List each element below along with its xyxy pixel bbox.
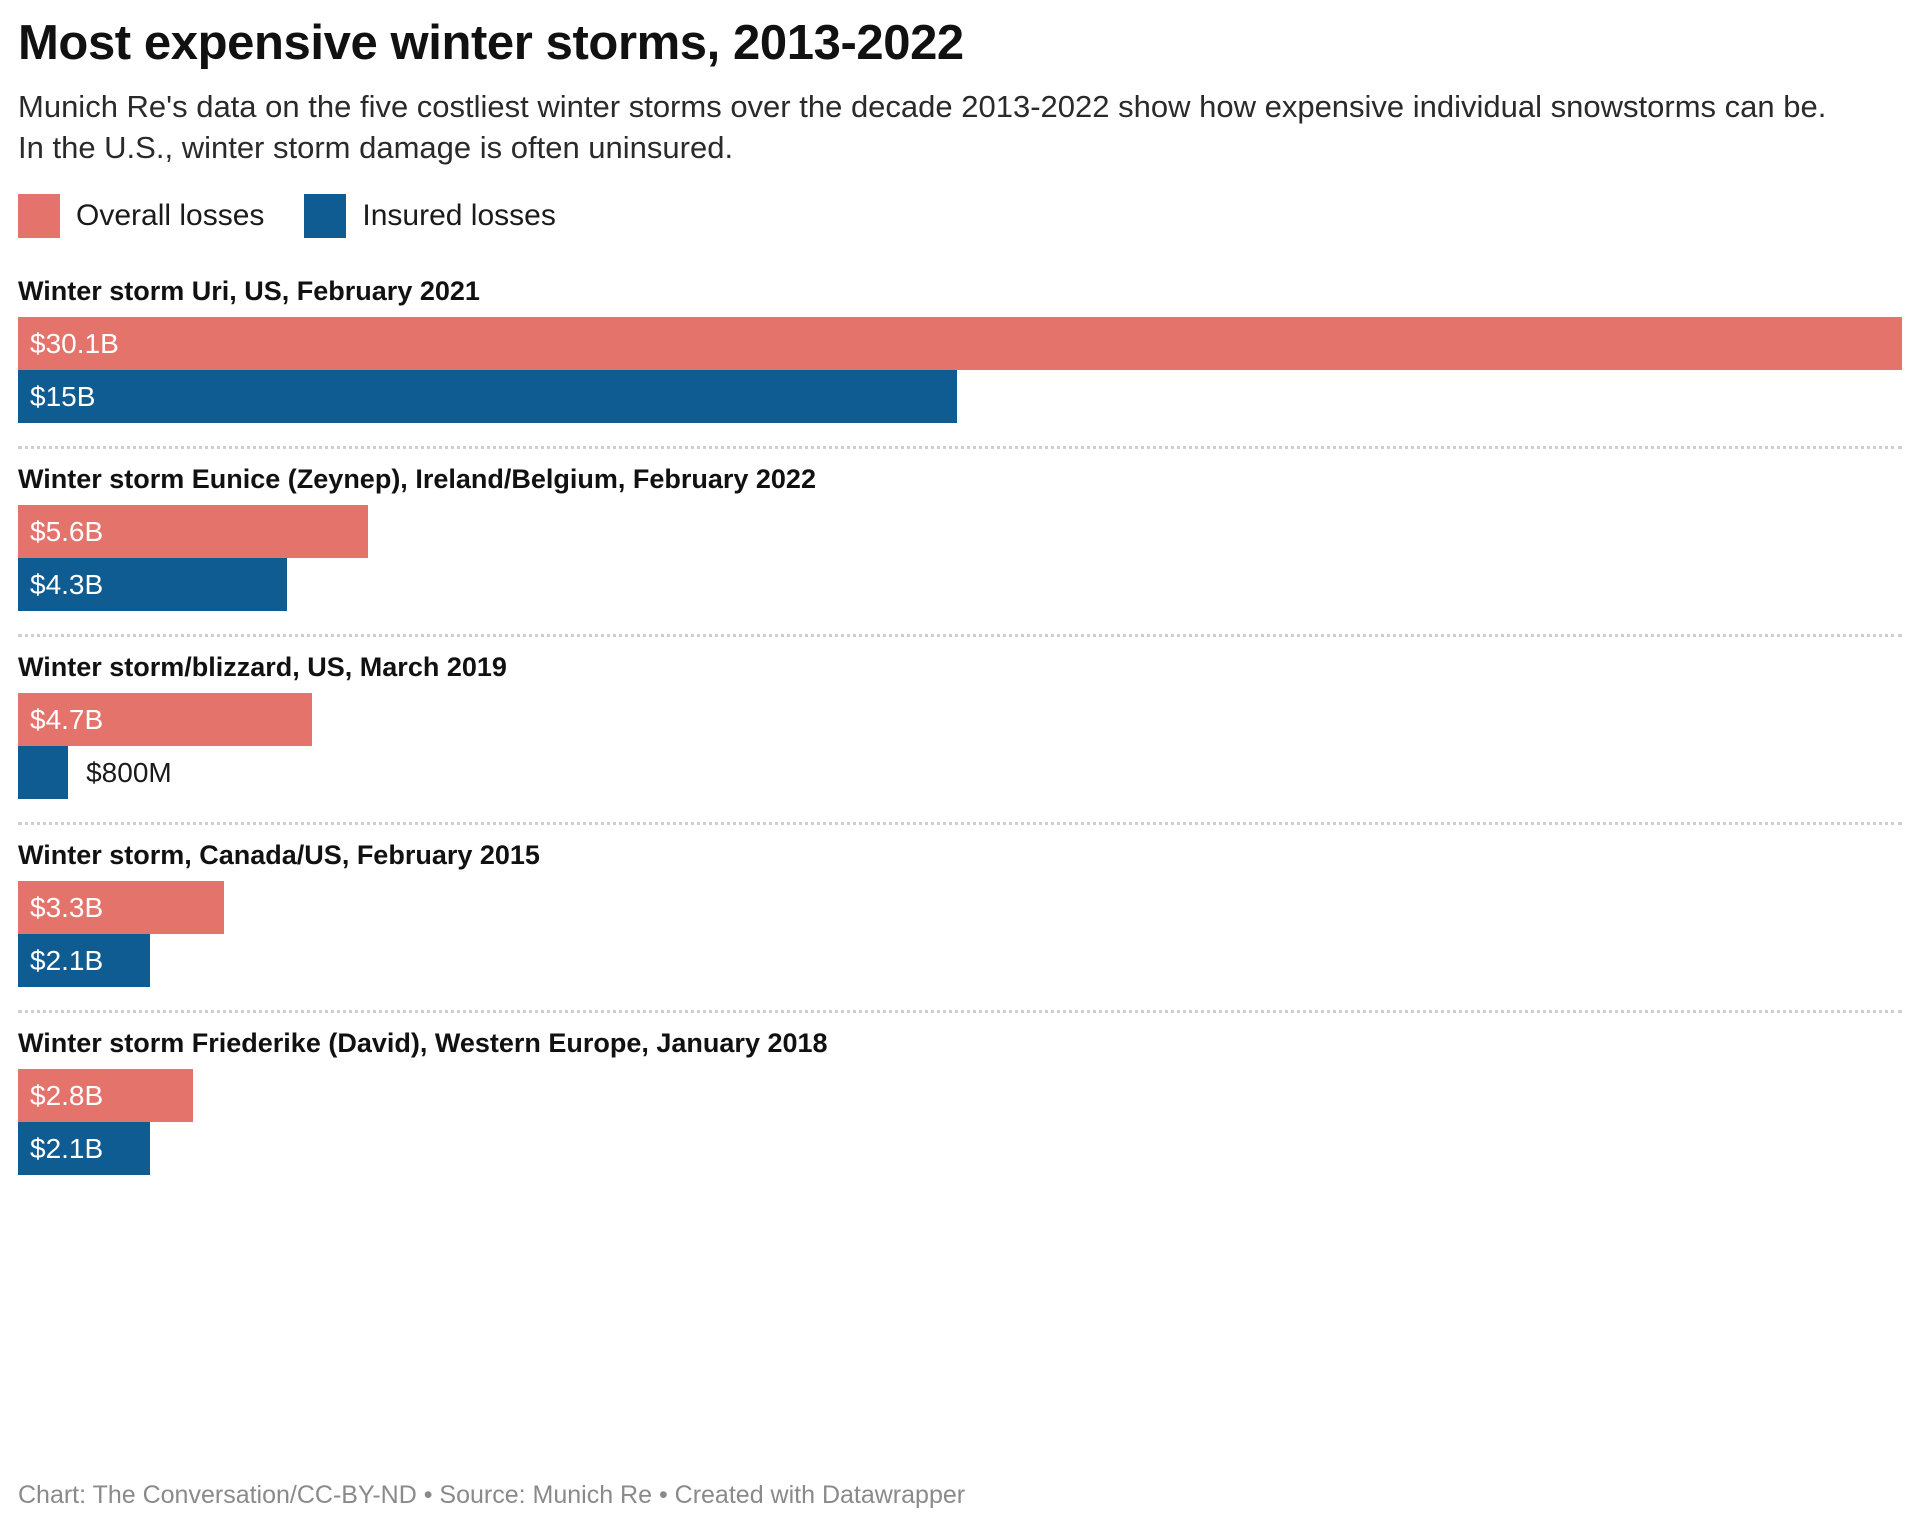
bar-group: Winter storm, Canada/US, February 2015 $…: [18, 825, 1902, 1013]
bar-group-bars: $30.1B $15B: [18, 317, 1902, 423]
bar-value-label: $15B: [18, 383, 95, 411]
table-row: $3.3B: [18, 881, 1902, 934]
bar-insured-losses[interactable]: $2.1B: [18, 934, 150, 987]
table-row: $800M: [18, 746, 1902, 799]
bar-overall-losses[interactable]: $2.8B: [18, 1069, 193, 1122]
legend-swatch-insured-losses: [304, 194, 346, 238]
bar-insured-losses[interactable]: [18, 746, 68, 799]
table-row: $2.1B: [18, 934, 1902, 987]
table-row: $5.6B: [18, 505, 1902, 558]
bar-overall-losses[interactable]: $4.7B: [18, 693, 312, 746]
bar-group-label: Winter storm/blizzard, US, March 2019: [18, 637, 1902, 693]
bar-overall-losses[interactable]: $5.6B: [18, 505, 368, 558]
page-title: Most expensive winter storms, 2013-2022: [18, 0, 1902, 69]
chart-credit-footer: Chart: The Conversation/CC-BY-ND • Sourc…: [18, 1481, 965, 1510]
table-row: $30.1B: [18, 317, 1902, 370]
bar-insured-losses[interactable]: $2.1B: [18, 1122, 150, 1175]
bar-value-label: $30.1B: [18, 330, 119, 358]
bar-overall-losses[interactable]: $30.1B: [18, 317, 1902, 370]
bar-group-label: Winter storm Uri, US, February 2021: [18, 261, 1902, 317]
bar-group-bars: $5.6B $4.3B: [18, 505, 1902, 611]
legend-label-overall-losses: Overall losses: [76, 199, 264, 233]
bar-group-bars: $2.8B $2.1B: [18, 1069, 1902, 1175]
chart-legend: Overall losses Insured losses: [18, 193, 1902, 239]
bar-overall-losses[interactable]: $3.3B: [18, 881, 224, 934]
table-row: $4.7B: [18, 693, 1902, 746]
table-row: $4.3B: [18, 558, 1902, 611]
table-row: $2.1B: [18, 1122, 1902, 1175]
bar-group: Winter storm/blizzard, US, March 2019 $4…: [18, 637, 1902, 825]
bar-value-label: $2.1B: [18, 1135, 103, 1163]
bar-group-label: Winter storm Friederike (David), Western…: [18, 1013, 1902, 1069]
bar-group-bars: $3.3B $2.1B: [18, 881, 1902, 987]
bar-insured-losses[interactable]: $4.3B: [18, 558, 287, 611]
bar-groups: Winter storm Uri, US, February 2021 $30.…: [18, 261, 1902, 1175]
bar-group-bars: $4.7B $800M: [18, 693, 1902, 799]
bar-group-label: Winter storm Eunice (Zeynep), Ireland/Be…: [18, 449, 1902, 505]
bar-group: Winter storm Friederike (David), Western…: [18, 1013, 1902, 1175]
bar-value-label: $4.3B: [18, 571, 103, 599]
bar-value-label: $800M: [68, 746, 172, 799]
legend-label-insured-losses: Insured losses: [362, 199, 555, 233]
table-row: $2.8B: [18, 1069, 1902, 1122]
legend-item-insured-losses[interactable]: Insured losses: [304, 194, 555, 238]
table-row: $15B: [18, 370, 1902, 423]
bar-insured-losses[interactable]: $15B: [18, 370, 957, 423]
bar-value-label: $4.7B: [18, 706, 103, 734]
legend-swatch-overall-losses: [18, 194, 60, 238]
bar-value-label: $3.3B: [18, 894, 103, 922]
bar-group: Winter storm Uri, US, February 2021 $30.…: [18, 261, 1902, 449]
chart-page: Most expensive winter storms, 2013-2022 …: [0, 0, 1920, 1536]
bar-value-label: $5.6B: [18, 518, 103, 546]
bar-value-label: $2.8B: [18, 1082, 103, 1110]
legend-item-overall-losses[interactable]: Overall losses: [18, 194, 264, 238]
bar-group: Winter storm Eunice (Zeynep), Ireland/Be…: [18, 449, 1902, 637]
bar-group-label: Winter storm, Canada/US, February 2015: [18, 825, 1902, 881]
chart-subtitle: Munich Re's data on the five costliest w…: [18, 87, 1858, 168]
bar-value-label: $2.1B: [18, 947, 103, 975]
